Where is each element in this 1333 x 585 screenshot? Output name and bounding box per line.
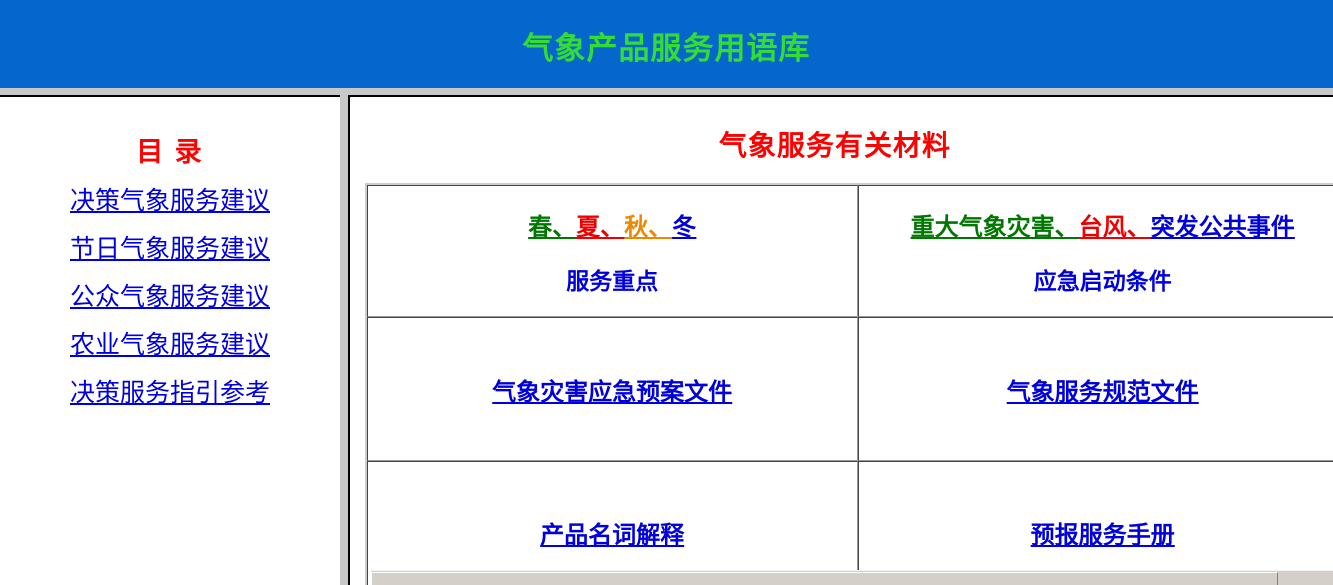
materials-table: 春、夏、秋、冬 服务重点 重大气象灾害、台风、突发公共事件 应急启动条件 气象灾…	[365, 183, 1333, 585]
table-cell-emergency-plan-docs: 气象灾害应急预案文件	[367, 317, 858, 461]
table-cell-emergency: 重大气象灾害、台风、突发公共事件 应急启动条件	[858, 185, 1333, 317]
disaster-segment-major: 重大气象灾害、	[911, 215, 1079, 241]
sidebar-item-public-service[interactable]: 公众气象服务建议	[70, 284, 270, 311]
link-seasons[interactable]: 春、夏、秋、冬	[528, 207, 696, 242]
cell-subtitle-emergency-conditions: 应急启动条件	[859, 262, 1333, 296]
table-row: 春、夏、秋、冬 服务重点 重大气象灾害、台风、突发公共事件 应急启动条件	[367, 185, 1333, 317]
sidebar-frame: 目 录 决策气象服务建议 节日气象服务建议 公众气象服务建议 农业气象服务建议 …	[0, 97, 340, 585]
scrollbar-thumb[interactable]	[371, 572, 1278, 585]
list-item: 节日气象服务建议	[0, 227, 340, 275]
link-forecast-service-manual[interactable]: 预报服务手册	[1031, 515, 1175, 550]
sidebar-item-decision-service[interactable]: 决策气象服务建议	[70, 188, 270, 215]
sidebar-item-agriculture-service[interactable]: 农业气象服务建议	[70, 332, 270, 359]
season-segment-spring: 春、	[528, 215, 576, 241]
table-row: 产品名词解释 预报服务手册	[367, 461, 1333, 585]
frame-separator-vertical[interactable]	[340, 88, 348, 585]
list-item: 决策服务指引参考	[0, 371, 340, 419]
horizontal-scrollbar[interactable]	[371, 570, 1333, 585]
table-cell-glossary: 产品名词解释	[367, 461, 858, 585]
page-title: 气象产品服务用语库	[0, 23, 1333, 68]
link-emergency-plan-documents[interactable]: 气象灾害应急预案文件	[492, 372, 732, 407]
sidebar-item-holiday-service[interactable]: 节日气象服务建议	[70, 236, 270, 263]
table-cell-service-standard-docs: 气象服务规范文件	[858, 317, 1333, 461]
application-window: 气象产品服务用语库 目 录 决策气象服务建议 节日气象服务建议 公众气象服务建议…	[0, 0, 1333, 585]
sidebar-item-decision-guide[interactable]: 决策服务指引参考	[70, 380, 270, 407]
list-item: 农业气象服务建议	[0, 323, 340, 371]
link-service-standard-documents[interactable]: 气象服务规范文件	[1007, 372, 1199, 407]
cell-subtitle-service-focus: 服务重点	[368, 262, 857, 296]
disaster-segment-typhoon: 台风、	[1079, 215, 1151, 241]
table-cell-seasons: 春、夏、秋、冬 服务重点	[367, 185, 858, 317]
season-segment-autumn: 秋、	[624, 215, 672, 241]
content-frame: 气象服务有关材料 春、夏、秋、冬 服务重点 重大气象灾害、台风、突发公共事件 应…	[350, 97, 1333, 585]
toc-heading: 目 录	[0, 130, 340, 169]
link-major-disasters[interactable]: 重大气象灾害、台风、突发公共事件	[911, 207, 1295, 242]
frame-separator-horizontal[interactable]	[0, 88, 1333, 95]
list-item: 决策气象服务建议	[0, 179, 340, 227]
content-inner: 气象服务有关材料 春、夏、秋、冬 服务重点 重大气象灾害、台风、突发公共事件 应…	[350, 97, 1333, 567]
link-product-glossary[interactable]: 产品名词解释	[540, 515, 684, 550]
content-heading: 气象服务有关材料	[350, 124, 1333, 164]
header-frame: 气象产品服务用语库	[0, 0, 1333, 88]
season-segment-summer: 夏、	[576, 215, 624, 241]
list-item: 公众气象服务建议	[0, 275, 340, 323]
disaster-segment-public-incident: 突发公共事件	[1151, 215, 1295, 241]
table-row: 气象灾害应急预案文件 气象服务规范文件	[367, 317, 1333, 461]
table-cell-forecast-manual: 预报服务手册	[858, 461, 1333, 585]
toc-list: 决策气象服务建议 节日气象服务建议 公众气象服务建议 农业气象服务建议 决策服务…	[0, 179, 340, 419]
season-segment-winter: 冬	[672, 215, 696, 241]
